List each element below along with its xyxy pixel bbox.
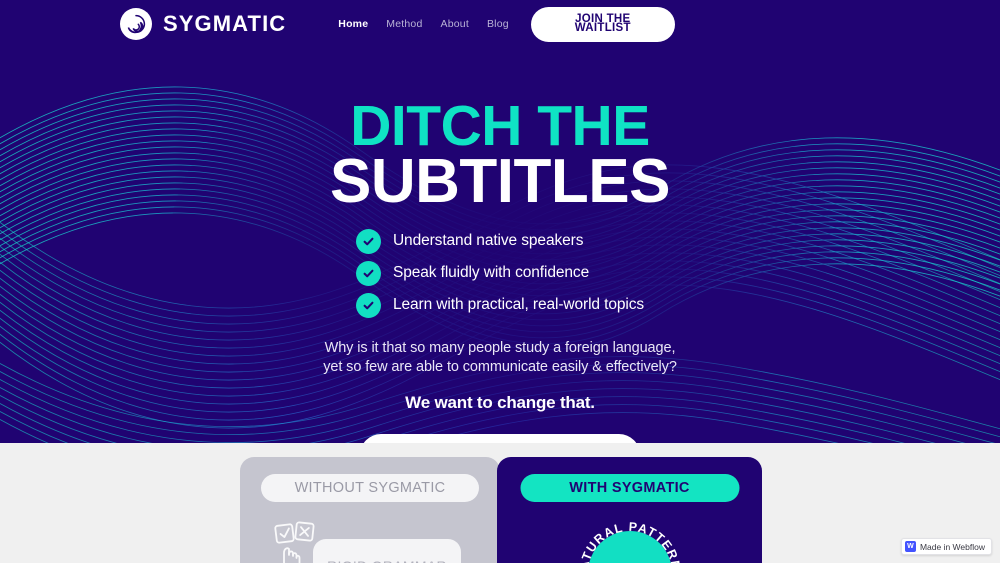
hero-section: SYGMATIC Home Method About Blog JOIN THE… xyxy=(0,0,1000,443)
nav-link-about[interactable]: About xyxy=(441,18,469,30)
headline-line-1: DITCH THE xyxy=(330,100,670,153)
list-item: Learn with practical, real-world topics xyxy=(356,293,644,318)
webflow-logo-icon: W xyxy=(905,541,916,552)
without-sygmatic-card: WITHOUT SYGMATIC RIGID GRAMMAR xyxy=(240,457,500,563)
hero-join-waitlist-button[interactable]: JOIN THE WAITLIST xyxy=(360,434,639,443)
hero-paragraph-line-1: Why is it that so many people study a fo… xyxy=(325,340,676,356)
benefit-text: Learn with practical, real-world topics xyxy=(393,296,644,314)
main-navigation: SYGMATIC Home Method About Blog JOIN THE… xyxy=(0,0,1000,48)
page-title: DITCH THE SUBTITLES xyxy=(330,100,670,211)
list-item: Speak fluidly with confidence xyxy=(356,261,644,286)
comparison-section: WITHOUT SYGMATIC RIGID GRAMMAR WITH SYGM… xyxy=(0,443,1000,563)
check-circle-icon xyxy=(356,229,381,254)
headline-line-2: SUBTITLES xyxy=(330,153,670,211)
with-sygmatic-label: WITH SYGMATIC xyxy=(520,474,739,502)
without-sygmatic-label: WITHOUT SYGMATIC xyxy=(261,474,479,502)
with-sygmatic-card: WITH SYGMATIC NATURAL PATTERNS xyxy=(497,457,762,563)
spiral-icon xyxy=(120,8,152,40)
rigid-grammar-label: RIGID GRAMMAR xyxy=(313,539,461,563)
benefit-list: Understand native speakers Speak fluidly… xyxy=(356,229,644,318)
nav-links: Home Method About Blog xyxy=(338,18,509,30)
check-circle-icon xyxy=(356,293,381,318)
made-in-webflow-badge[interactable]: W Made in Webflow xyxy=(901,538,992,555)
hero-paragraph-line-2: yet so few are able to communicate easil… xyxy=(323,359,677,375)
hero-paragraph: Why is it that so many people study a fo… xyxy=(323,339,677,377)
nav-cta-line2: WAITLIST xyxy=(575,24,631,33)
brand-logo[interactable]: SYGMATIC xyxy=(120,8,286,40)
made-in-webflow-label: Made in Webflow xyxy=(920,542,985,552)
benefit-text: Speak fluidly with confidence xyxy=(393,264,589,282)
benefit-text: Understand native speakers xyxy=(393,232,583,250)
nav-link-blog[interactable]: Blog xyxy=(487,18,509,30)
rigid-grammar-text: RIGID GRAMMAR xyxy=(327,558,447,563)
natural-patterns-badge: NATURAL PATTERNS xyxy=(570,513,690,563)
nav-link-home[interactable]: Home xyxy=(338,18,368,30)
hero-tagline: We want to change that. xyxy=(405,393,595,413)
check-circle-icon xyxy=(356,261,381,286)
nav-join-waitlist-button[interactable]: JOIN THE WAITLIST xyxy=(531,7,675,42)
list-item: Understand native speakers xyxy=(356,229,644,254)
hero-content: DITCH THE SUBTITLES Understand native sp… xyxy=(0,0,1000,443)
brand-name: SYGMATIC xyxy=(163,11,286,37)
nav-link-method[interactable]: Method xyxy=(386,18,422,30)
